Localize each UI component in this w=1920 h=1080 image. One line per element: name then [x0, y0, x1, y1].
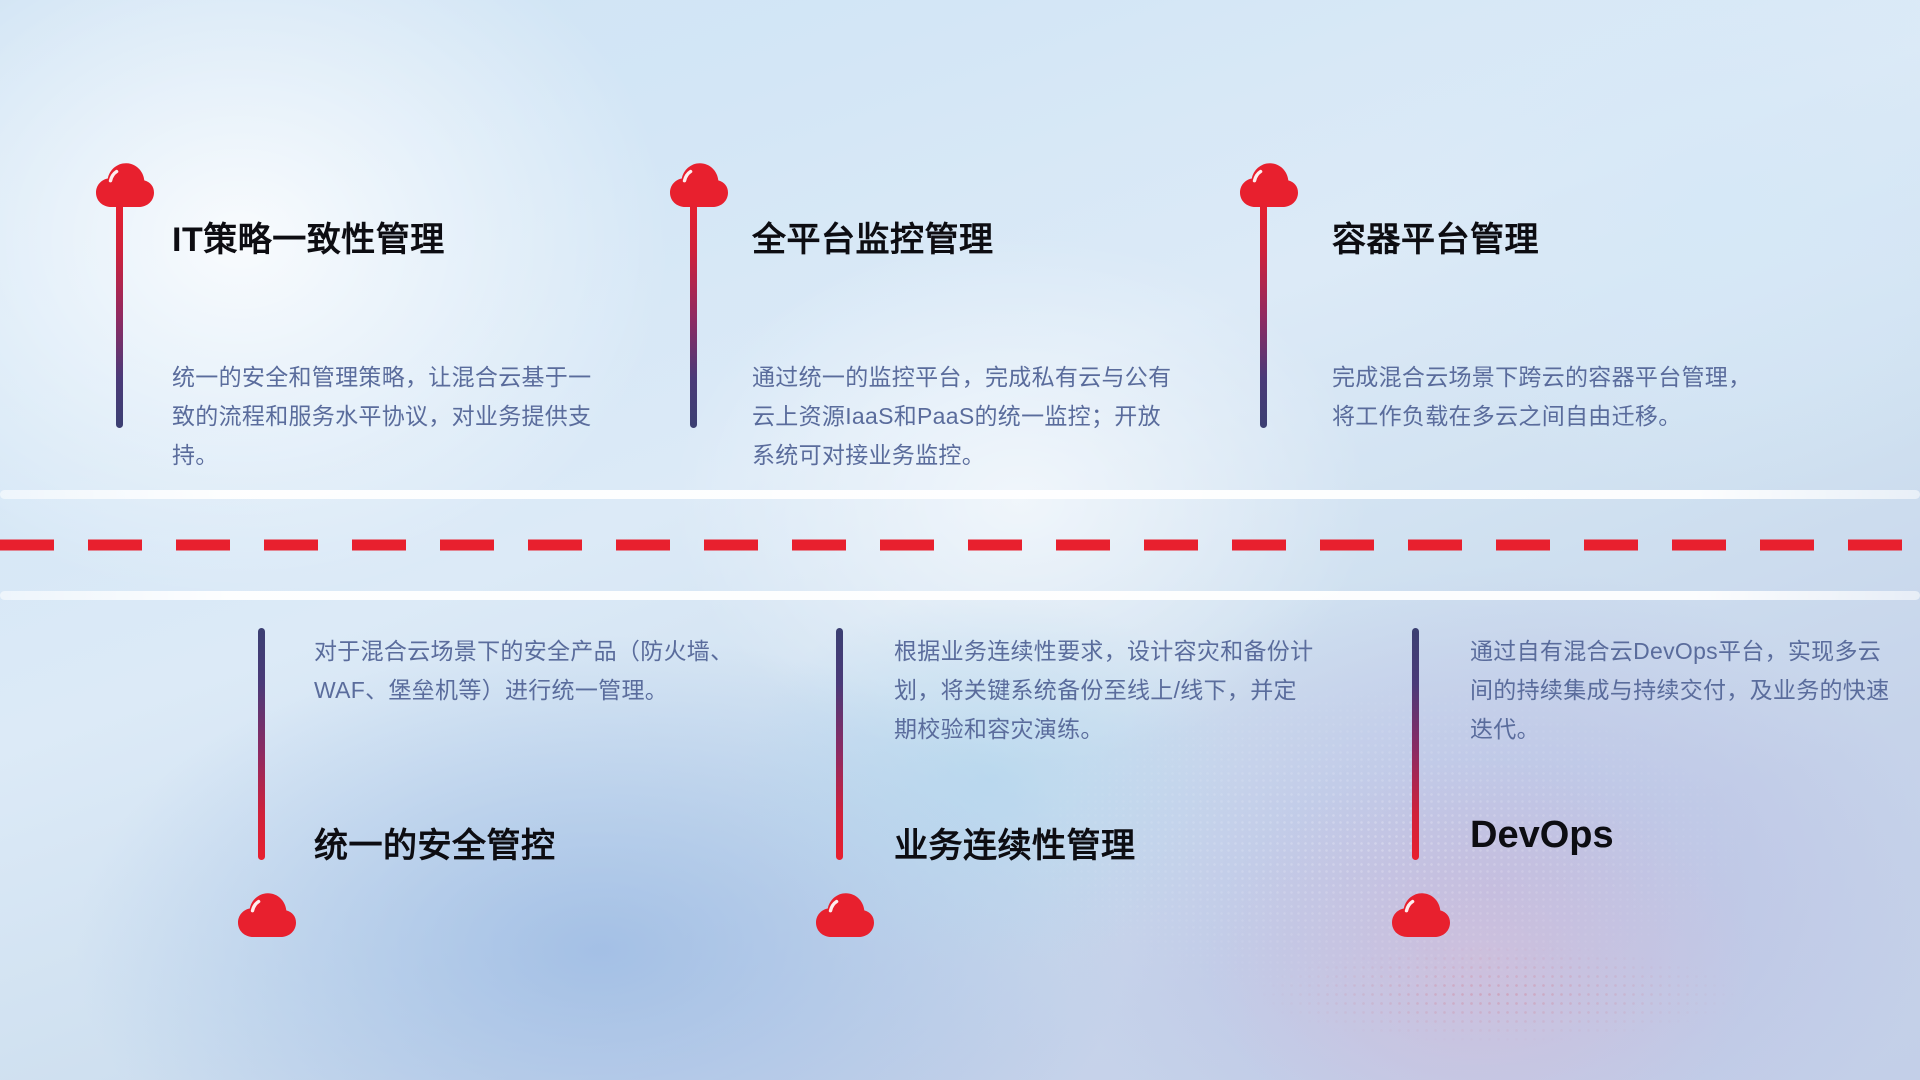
card-heading: 统一的安全管控	[314, 818, 556, 867]
card-heading: DevOps	[1470, 814, 1614, 857]
cloud-icon	[1238, 160, 1300, 208]
divider-band-top	[0, 490, 1920, 499]
divider-band-bottom	[0, 591, 1920, 600]
card-body: 根据业务连续性要求，设计容灾和备份计划，将关键系统备份至线上/线下，并定期校验和…	[894, 632, 1314, 749]
cloud-icon	[94, 160, 156, 208]
card-body: 通过统一的监控平台，完成私有云与公有云上资源IaaS和PaaS的统一监控；开放系…	[752, 358, 1180, 475]
connector-line	[690, 200, 697, 428]
card-heading: IT策略一致性管理	[172, 212, 445, 261]
connector-line	[1412, 628, 1419, 860]
cloud-icon	[668, 160, 730, 208]
card-body: 对于混合云场景下的安全产品（防火墙、WAF、堡垒机等）进行统一管理。	[314, 632, 734, 710]
card-body: 统一的安全和管理策略，让混合云基于一致的流程和服务水平协议，对业务提供支持。	[172, 358, 592, 475]
card-body: 完成混合云场景下跨云的容器平台管理，将工作负载在多云之间自由迁移。	[1332, 358, 1752, 436]
connector-line	[116, 200, 123, 428]
cloud-icon	[814, 890, 876, 938]
cloud-icon	[236, 890, 298, 938]
connector-line	[258, 628, 265, 860]
connector-line	[836, 628, 843, 860]
connector-line	[1260, 200, 1267, 428]
divider-dashed-line	[0, 538, 1920, 552]
card-heading: 容器平台管理	[1332, 212, 1539, 261]
card-body: 通过自有混合云DevOps平台，实现多云间的持续集成与持续交付，及业务的快速迭代…	[1470, 632, 1890, 749]
card-heading: 业务连续性管理	[894, 818, 1136, 867]
card-heading: 全平台监控管理	[752, 212, 994, 261]
infographic-canvas: IT策略一致性管理 统一的安全和管理策略，让混合云基于一致的流程和服务水平协议，…	[0, 0, 1920, 1080]
hybrid-cloud-divider	[0, 490, 1920, 600]
cloud-icon	[1390, 890, 1452, 938]
